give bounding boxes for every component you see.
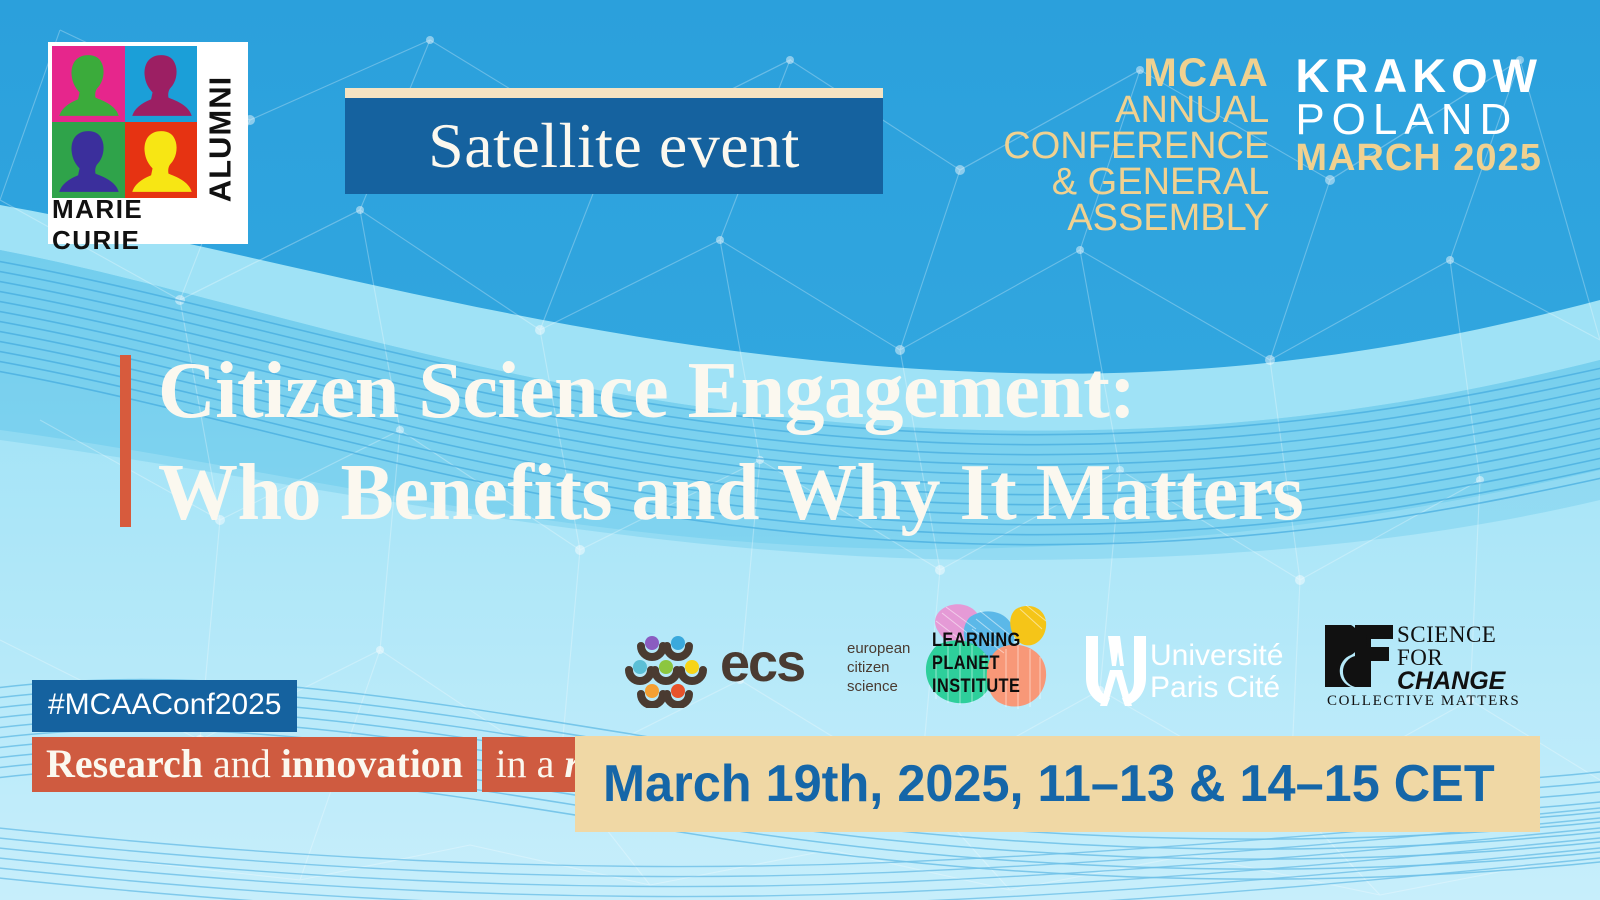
lpi-wordmark: LEARNING PLANET INSTITUTE xyxy=(932,629,1021,699)
conference-location-column: KRAKOW POLAND MARCH 2025 xyxy=(1295,54,1542,177)
tagline-innovation: innovation xyxy=(281,741,463,786)
sfc-line-science: SCIENCE xyxy=(1397,623,1505,646)
satellite-event-label: Satellite event xyxy=(428,114,800,178)
title-line-2: Who Benefits and Why It Matters xyxy=(158,442,1458,544)
ecs-subtitle-line-1: european xyxy=(847,640,910,659)
ecs-subtitle-line-3: science xyxy=(847,678,910,697)
partner-logos: ecs european citizen science xyxy=(605,595,1535,735)
conference-line-general: & GENERAL xyxy=(1003,164,1269,200)
upc-eiffel-icon xyxy=(1080,630,1152,710)
tagline-in-a: in a xyxy=(496,741,565,786)
badge-accent-bar xyxy=(345,88,883,98)
ecs-mark-icon xyxy=(615,630,715,708)
badge-body: Satellite event xyxy=(345,98,883,194)
hashtag-label: #MCAAConf2025 xyxy=(48,688,281,721)
upc-line-2: Paris Cité xyxy=(1150,672,1283,704)
logo-learning-planet-institute: LEARNING PLANET INSTITUTE xyxy=(910,595,1055,720)
portrait-blue-magenta xyxy=(125,46,198,122)
logo-science-for-change: SCIENCE FOR CHANGE COLLECTIVE MATTERS xyxy=(1325,625,1535,717)
conference-name-column: MCAA ANNUAL CONFERENCE & GENERAL ASSEMBL… xyxy=(1003,54,1269,236)
event-banner: ALUMNI MARIE CURIE Satellite event MCAA … xyxy=(0,0,1600,900)
sfc-monogram-icon xyxy=(1325,625,1393,687)
conference-info-block: MCAA ANNUAL CONFERENCE & GENERAL ASSEMBL… xyxy=(1003,54,1542,236)
portrait-pink-green xyxy=(52,46,125,122)
conference-line-assembly: ASSEMBLY xyxy=(1003,200,1269,236)
title-accent-bar xyxy=(120,355,131,527)
lpi-line-3: INSTITUTE xyxy=(932,675,1021,698)
ecs-wordmark: ecs xyxy=(720,636,804,690)
conference-country: POLAND xyxy=(1295,99,1542,141)
ecs-subtitle-line-2: citizen xyxy=(847,659,910,678)
upc-wordmark: Université Paris Cité xyxy=(1150,640,1283,703)
sfc-wordmark: SCIENCE FOR CHANGE xyxy=(1397,623,1505,694)
conference-line-mcaa: MCAA xyxy=(1003,54,1269,92)
mcaa-logo: ALUMNI MARIE CURIE xyxy=(48,42,248,244)
lpi-line-1: LEARNING xyxy=(932,629,1021,652)
event-date-text: March 19th, 2025, 11–13 & 14–15 CET xyxy=(603,754,1495,814)
conference-city: KRAKOW xyxy=(1295,54,1542,99)
sfc-line-for: FOR xyxy=(1397,646,1505,669)
title-line-1: Citizen Science Engagement: xyxy=(158,340,1458,442)
hashtag-badge: #MCAAConf2025 xyxy=(32,680,297,732)
portrait-red-yellow xyxy=(125,122,198,198)
ecs-subtitle: european citizen science xyxy=(847,640,910,696)
mcaa-logo-portrait-grid xyxy=(52,46,197,198)
conference-date: MARCH 2025 xyxy=(1295,140,1542,176)
mcaa-logo-alumni-text: ALUMNI xyxy=(196,46,244,232)
satellite-event-badge: Satellite event xyxy=(345,88,883,194)
event-date-banner: March 19th, 2025, 11–13 & 14–15 CET xyxy=(575,736,1540,832)
sfc-line-change: CHANGE xyxy=(1397,669,1505,694)
tagline-and: and xyxy=(203,741,281,786)
portrait-green-purple xyxy=(52,122,125,198)
conference-line-annual: ANNUAL xyxy=(1003,92,1269,128)
page-title: Citizen Science Engagement: Who Benefits… xyxy=(158,340,1458,545)
tagline-research: Research xyxy=(46,741,203,786)
conference-line-conference: CONFERENCE xyxy=(1003,128,1269,164)
tagline-row-1: Research and innovation xyxy=(32,737,477,792)
alumni-label: ALUMNI xyxy=(202,76,238,203)
logo-universite-paris-cite: Université Paris Cité xyxy=(1080,630,1300,710)
lpi-line-2: PLANET xyxy=(932,652,1021,675)
mcaa-logo-marie-curie-text: MARIE CURIE xyxy=(52,208,198,242)
sfc-tagline: COLLECTIVE MATTERS xyxy=(1327,693,1520,710)
marie-curie-label: MARIE CURIE xyxy=(52,194,198,256)
logo-european-citizen-science: ecs european citizen science xyxy=(615,630,905,710)
upc-line-1: Université xyxy=(1150,640,1283,672)
